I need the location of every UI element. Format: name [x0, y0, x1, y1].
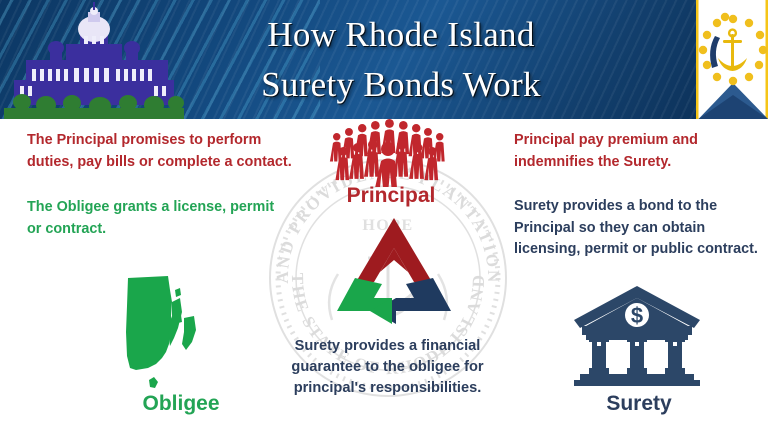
obligee-label: Obligee — [106, 392, 256, 416]
title-line-2: Surety Bonds Work — [261, 60, 541, 110]
dollar-sign-glyph: $ — [631, 303, 643, 328]
principal-premium-text: Principal pay premium and indemnifies th… — [514, 130, 764, 173]
title-line-1: How Rhode Island — [267, 10, 534, 60]
rhode-island-flag-banner-icon — [670, 0, 768, 119]
bank-building-with-dollar-icon: $ — [572, 284, 702, 386]
crowd-of-people-icon — [329, 117, 451, 187]
rhode-island-state-map-icon — [122, 272, 232, 394]
surety-guarantee-caption: Surety provides a financial guarantee to… — [271, 336, 504, 399]
obligee-grant-text: The Obligee grants a license, permit or … — [27, 197, 292, 240]
three-way-recycle-triangle-icon — [334, 216, 454, 328]
rhode-island-state-house-icon — [4, 2, 184, 119]
header-banner: How Rhode Island Surety Bonds Work — [0, 0, 768, 119]
page-title: How Rhode Island Surety Bonds Work — [186, 4, 616, 116]
surety-label: Surety — [564, 392, 714, 416]
surety-bond-text: Surety provides a bond to the Principal … — [514, 196, 759, 261]
principal-promise-text: The Principal promises to perform duties… — [27, 130, 307, 173]
infographic-canvas: How Rhode Island Surety Bonds Work — [0, 0, 768, 439]
principal-label: Principal — [321, 184, 461, 208]
